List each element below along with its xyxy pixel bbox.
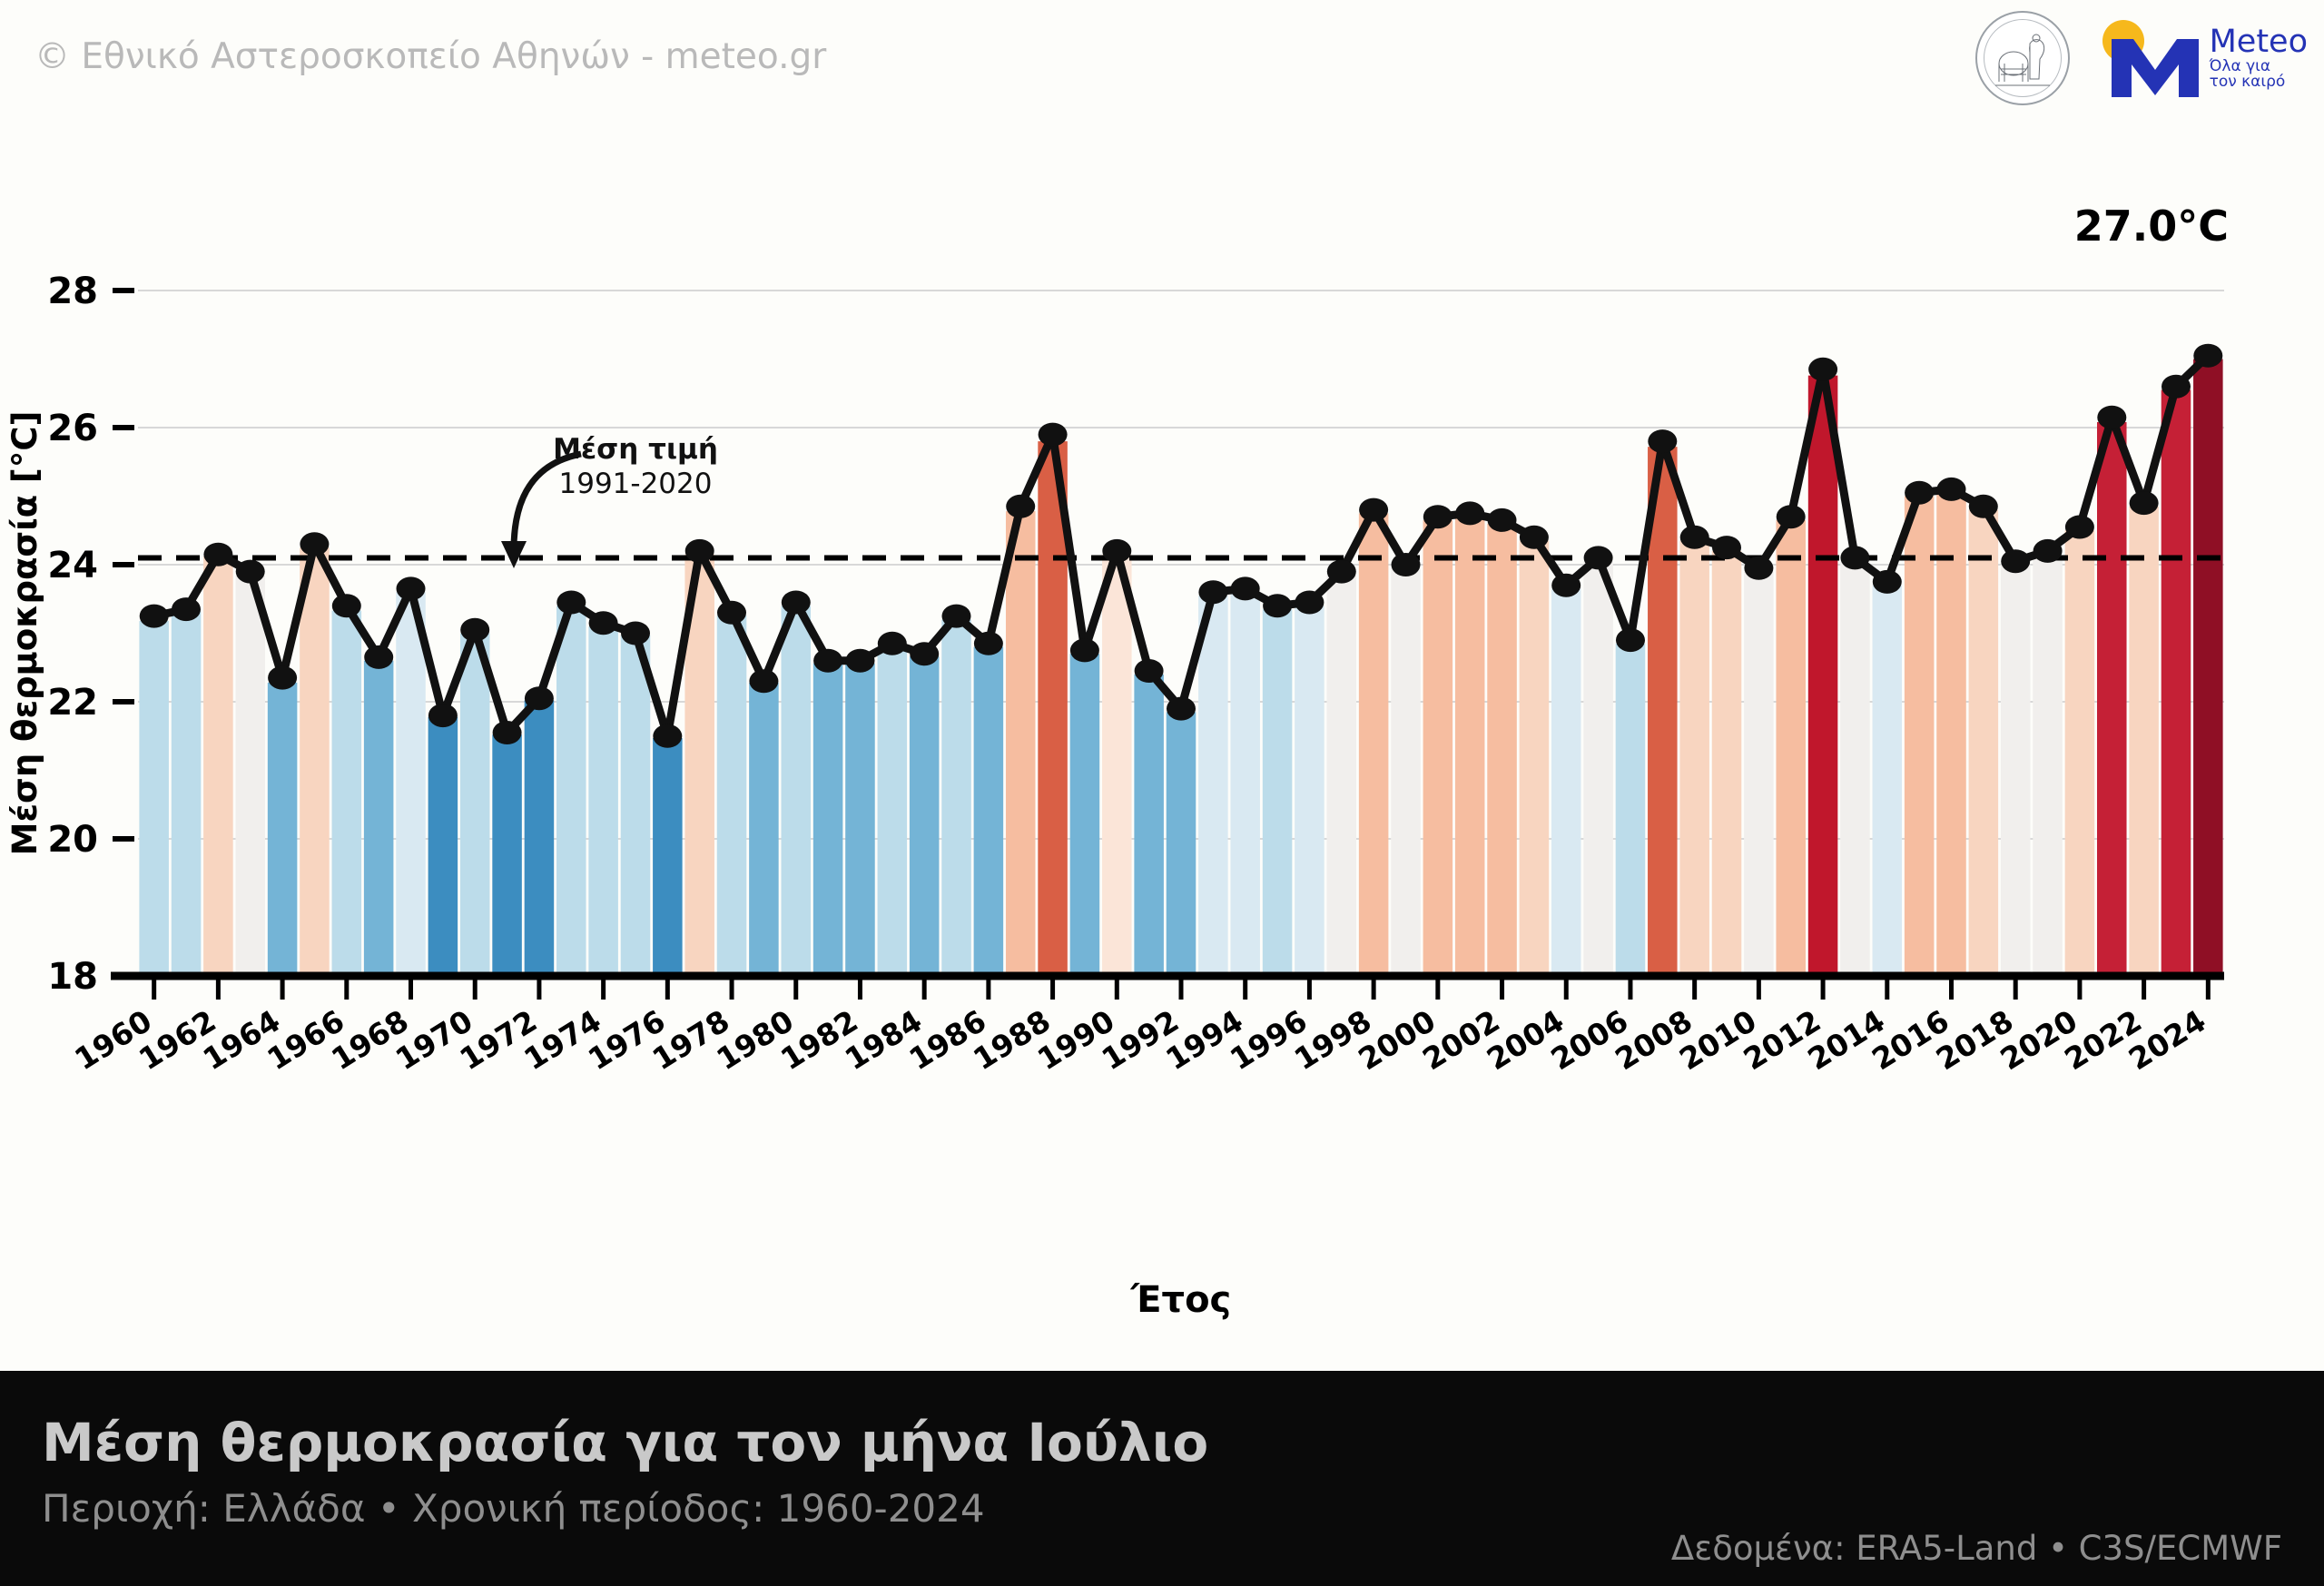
- data-point-marker: [1488, 508, 1517, 532]
- data-point-marker: [1070, 638, 1099, 662]
- data-point-marker: [1263, 594, 1292, 617]
- bar: [781, 606, 811, 976]
- bar: [428, 717, 458, 976]
- footer-subtitle: Περιοχή: Ελλάδα • Χρονική περίοδος: 1960…: [42, 1486, 985, 1531]
- data-point-marker: [1039, 423, 1068, 447]
- bar: [364, 661, 394, 976]
- y-tick-label: 18: [47, 956, 98, 998]
- data-point-marker: [1969, 495, 1998, 518]
- bar: [1006, 511, 1036, 976]
- bar: [1969, 510, 1999, 976]
- data-point-marker: [1167, 697, 1196, 721]
- bar: [621, 635, 651, 976]
- bar: [1905, 497, 1935, 977]
- bar: [300, 547, 330, 976]
- bar: [1263, 609, 1293, 976]
- data-point-marker: [1423, 505, 1452, 528]
- y-tick-label: 24: [47, 545, 98, 586]
- data-point-marker: [1680, 526, 1709, 549]
- y-tick-label: 20: [47, 819, 98, 861]
- bar: [172, 611, 202, 976]
- data-point-marker: [2193, 344, 2222, 368]
- bar: [1295, 606, 1324, 976]
- data-point-marker: [1135, 659, 1164, 683]
- bar: [1134, 675, 1164, 976]
- data-point-marker: [1392, 553, 1421, 576]
- bar: [2129, 507, 2159, 976]
- bar: [1776, 520, 1806, 976]
- bar: [1616, 644, 1646, 976]
- bar: [525, 700, 555, 976]
- bar: [1744, 572, 1774, 976]
- chart-container: 1820222426281960196219641966196819701972…: [0, 0, 2324, 1371]
- data-point-marker: [493, 721, 522, 744]
- bar: [1070, 654, 1100, 976]
- footer-title: Μέση θερμοκρασία για τον μήνα Ιούλιο: [42, 1412, 1208, 1473]
- data-point-marker: [2065, 516, 2094, 539]
- bar: [139, 621, 169, 976]
- bar: [1679, 541, 1709, 976]
- bar: [941, 619, 971, 976]
- data-point-marker: [1198, 580, 1227, 604]
- bar: [1198, 596, 1228, 976]
- data-point-marker: [428, 704, 458, 727]
- data-point-marker: [1648, 429, 1677, 453]
- data-point-marker: [910, 642, 939, 665]
- bar: [1359, 513, 1389, 976]
- bar: [556, 606, 586, 976]
- data-point-marker: [397, 576, 426, 600]
- bar: [1423, 520, 1453, 976]
- bar: [492, 734, 522, 976]
- bar: [396, 592, 426, 976]
- data-point-marker: [364, 645, 393, 669]
- data-point-marker: [1102, 539, 1131, 563]
- data-point-marker: [878, 632, 907, 655]
- bar: [1455, 517, 1485, 976]
- temperature-chart: 1820222426281960196219641966196819701972…: [0, 0, 2324, 1371]
- data-point-marker: [2001, 549, 2030, 573]
- bar: [2001, 565, 2031, 976]
- bar: [1712, 551, 1742, 976]
- bar: [460, 634, 490, 977]
- data-point-marker: [1905, 481, 1934, 505]
- data-point-marker: [1231, 576, 1260, 600]
- data-point-marker: [300, 532, 329, 556]
- data-point-marker: [236, 560, 265, 584]
- data-point-marker: [1455, 501, 1484, 525]
- data-point-marker: [589, 611, 618, 635]
- data-point-marker: [203, 543, 232, 566]
- bar: [235, 576, 265, 976]
- y-tick-label: 26: [47, 408, 98, 449]
- data-point-marker: [813, 649, 842, 673]
- data-point-marker: [140, 605, 169, 628]
- data-point-marker: [1006, 495, 1035, 518]
- bar: [845, 664, 875, 976]
- bar: [1487, 524, 1517, 976]
- data-point-marker: [2097, 406, 2126, 429]
- bar: [1808, 376, 1838, 976]
- bar: [1551, 588, 1581, 976]
- x-axis-title: Έτος: [1130, 1279, 1232, 1321]
- bar: [813, 664, 843, 976]
- data-point-marker: [2033, 539, 2063, 563]
- bar-series: [139, 360, 2222, 977]
- data-point-marker: [782, 591, 811, 615]
- data-point-marker: [685, 539, 714, 563]
- bar: [717, 616, 747, 976]
- data-point-marker: [717, 601, 746, 625]
- data-point-marker: [1584, 546, 1613, 569]
- y-tick-label: 22: [47, 682, 98, 724]
- bar: [1230, 592, 1260, 976]
- data-point-marker: [1873, 570, 1902, 594]
- data-point-marker: [556, 591, 586, 615]
- bar: [878, 647, 908, 976]
- bar: [1840, 561, 1870, 976]
- data-point-marker: [974, 632, 1003, 655]
- bar: [332, 611, 362, 976]
- bar: [653, 738, 683, 976]
- bar: [749, 683, 779, 976]
- data-point-marker: [942, 605, 971, 628]
- bar: [1936, 493, 1966, 976]
- bar: [1583, 561, 1613, 976]
- bar: [1520, 541, 1550, 976]
- y-tick-label: 28: [47, 271, 98, 312]
- bar: [2065, 530, 2095, 976]
- bar: [203, 557, 233, 976]
- bar: [2033, 555, 2063, 976]
- bar: [1102, 555, 1132, 976]
- data-point-marker: [621, 622, 650, 645]
- data-point-marker: [1359, 498, 1388, 522]
- data-point-marker: [1808, 358, 1837, 381]
- bar: [910, 656, 940, 976]
- data-point-marker: [1295, 591, 1324, 615]
- bar: [1327, 575, 1357, 976]
- bar: [1391, 568, 1421, 976]
- data-point-marker: [1327, 560, 1356, 584]
- bar: [974, 647, 1004, 976]
- data-point-marker: [268, 666, 297, 690]
- data-point-marker: [1937, 478, 1966, 501]
- data-point-marker: [2130, 491, 2159, 515]
- bar: [588, 626, 618, 976]
- data-point-marker: [460, 618, 489, 642]
- data-point-marker: [653, 724, 682, 748]
- data-point-marker: [1840, 546, 1869, 569]
- data-point-marker: [1744, 557, 1773, 580]
- bar: [268, 683, 298, 976]
- data-point-marker: [1777, 505, 1806, 528]
- bar: [1167, 712, 1196, 976]
- footer-source: Δεδομένα: ERA5-Land • C3S/ECMWF: [1671, 1529, 2282, 1568]
- data-point-marker: [172, 597, 201, 621]
- page-footer: Μέση θερμοκρασία για τον μήνα Ιούλιο Περ…: [0, 1371, 2324, 1586]
- bar: [2193, 360, 2223, 977]
- data-point-marker: [332, 594, 361, 617]
- bar: [2097, 422, 2127, 976]
- data-point-marker: [1712, 536, 1741, 559]
- data-point-marker: [1551, 574, 1581, 597]
- data-point-marker: [2162, 375, 2191, 399]
- bar: [1873, 586, 1903, 976]
- data-point-marker: [525, 686, 554, 710]
- data-point-marker: [749, 669, 778, 693]
- bar: [2162, 389, 2191, 976]
- data-point-marker: [1520, 526, 1549, 549]
- data-point-marker: [846, 649, 875, 673]
- data-point-marker: [1616, 628, 1645, 652]
- y-axis-title: Μέση θερμοκρασία [°C]: [5, 411, 44, 856]
